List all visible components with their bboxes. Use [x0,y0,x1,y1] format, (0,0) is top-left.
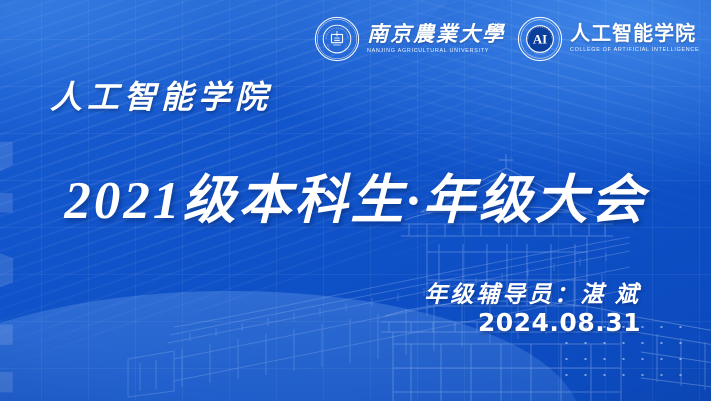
college-of-artificial-intelligence-seal-icon: AI [517,16,563,62]
page-title: 2021级本科生·年级大会 [0,158,711,234]
college-name-cn: 人工智能学院 [570,24,697,46]
college-script-heading: 人工智能学院 [50,72,272,118]
presentation-title-slide: NAU 南京農業大學 NANJING AGRICULTURAL UNIVERSI… [0,0,711,401]
college-name-en: COLLEGE OF ARTIFICIAL INTELLIGENCE [570,47,699,54]
date-label: 2024.08.31 [478,308,641,337]
college-logo-text: 人工智能学院 COLLEGE OF ARTIFICIAL INTELLIGENC… [570,24,697,54]
svg-text:AI: AI [533,33,547,47]
university-name-cn: 南京農業大學 [367,23,505,46]
nanjing-agricultural-university-seal-icon [314,16,360,62]
presenter-line: 年级辅导员：湛 斌 [424,275,641,309]
university-logo-text: 南京農業大學 NANJING AGRICULTURAL UNIVERSITY [367,23,505,54]
logo-bar: 南京農業大學 NANJING AGRICULTURAL UNIVERSITY A… [314,16,697,62]
college-logo: AI 人工智能学院 COLLEGE OF ARTIFICIAL INTELLIG… [517,16,697,62]
university-name-en: NANJING AGRICULTURAL UNIVERSITY [367,48,508,55]
university-logo: 南京農業大學 NANJING AGRICULTURAL UNIVERSITY [314,16,505,62]
